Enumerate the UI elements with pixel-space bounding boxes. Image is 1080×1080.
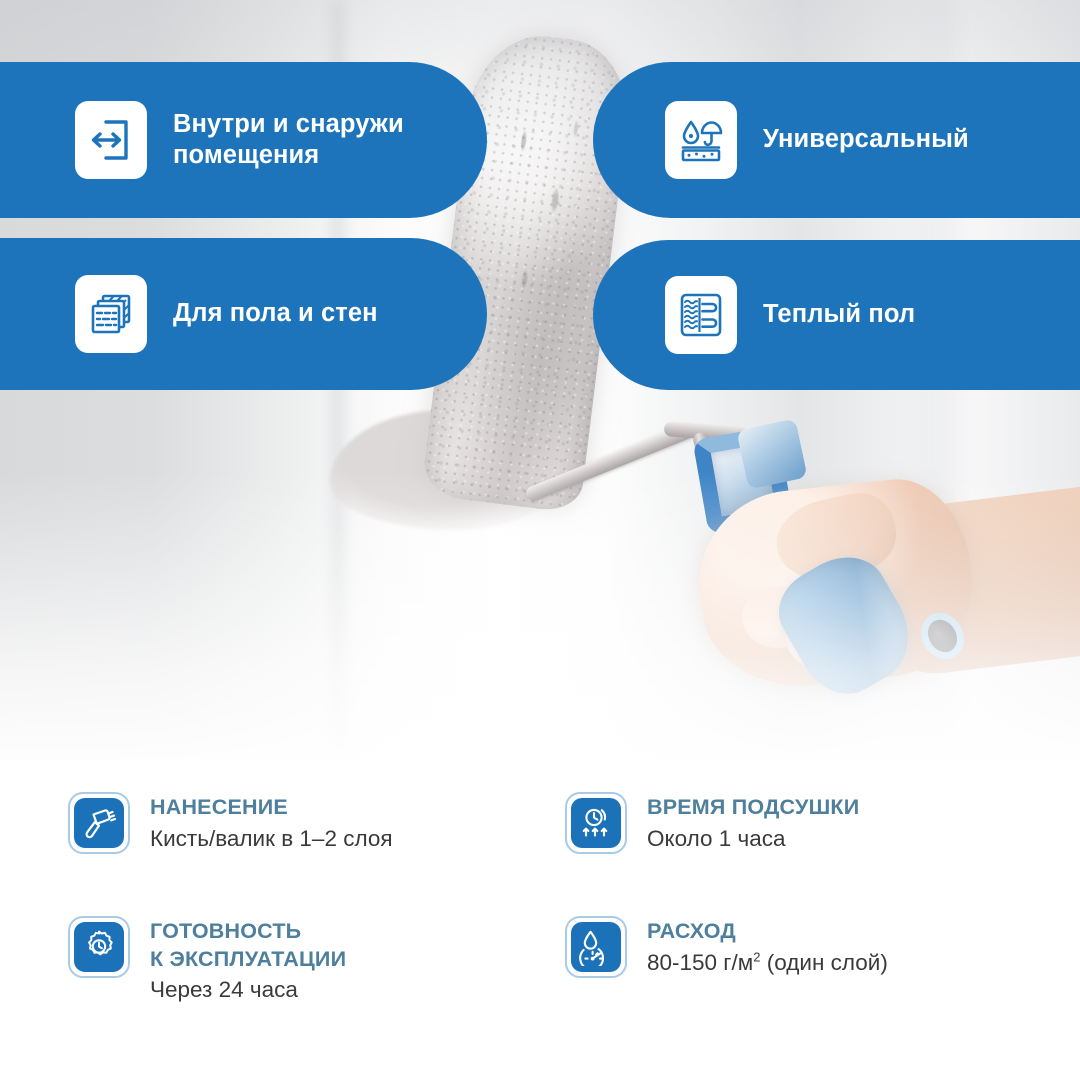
finger-knuckle <box>742 586 812 648</box>
spec-icon-tile <box>68 916 130 978</box>
roller-handle-icon <box>765 541 927 710</box>
infographic-page: Внутри и снаружи помещения Для пола и ст… <box>0 0 1080 1080</box>
droplet-gauge-consumption-icon <box>571 922 621 972</box>
spec-value: 80-150 г/м2 (один слой) <box>647 948 888 978</box>
roller-wire-arm-upper <box>664 421 749 442</box>
gear-clock-readiness-icon <box>74 922 124 972</box>
floor-and-wall-tiles-icon <box>75 275 147 353</box>
spec-item-consumption: РАСХОД 80-150 г/м2 (один слой) <box>565 916 1035 978</box>
feature-badge-universal[interactable]: Универсальный <box>593 62 1080 218</box>
feature-badge-floor-walls[interactable]: Для пола и стен <box>0 238 487 390</box>
spec-title: РАСХОД <box>647 919 736 943</box>
feature-badge-group: Внутри и снаружи помещения Для пола и ст… <box>0 0 1080 400</box>
feature-badge-label: Теплый пол <box>763 299 915 330</box>
spec-icon-tile <box>565 916 627 978</box>
indoor-outdoor-door-arrows-icon <box>75 101 147 179</box>
spec-item-application: НАНЕСЕНИЕ Кисть/валик в 1–2 слоя <box>68 792 538 854</box>
roller-handle-hole <box>922 615 962 658</box>
spec-item-drying-time: ВРЕМЯ ПОДСУШКИ Около 1 часа <box>565 792 1035 854</box>
feature-badge-label: Универсальный <box>763 124 969 155</box>
hand-holding-roller-icon <box>691 472 982 695</box>
spec-item-readiness: ГОТОВНОСТЬ К ЭКСПЛУАТАЦИИ Через 24 часа <box>68 916 538 1005</box>
underfloor-heating-icon <box>665 276 737 354</box>
spec-value: Через 24 часа <box>150 975 346 1005</box>
finger-knuckle <box>786 606 860 670</box>
spec-title: НАНЕСЕНИЕ <box>150 795 288 819</box>
roller-wire-crank <box>692 431 723 502</box>
paint-brush-roller-icon <box>74 798 124 848</box>
thumb <box>769 486 903 587</box>
feature-badge-indoor-outdoor[interactable]: Внутри и снаружи помещения <box>0 62 487 218</box>
feature-badge-label: Внутри и снаружи помещения <box>173 109 487 171</box>
clock-drying-arrows-icon <box>571 798 621 848</box>
spec-value: Кисть/валик в 1–2 слоя <box>150 824 393 854</box>
spec-value: Около 1 часа <box>647 824 859 854</box>
spec-title: ГОТОВНОСТЬ К ЭКСПЛУАТАЦИИ <box>150 919 346 971</box>
wet-paint-smear <box>330 410 560 530</box>
spec-text: НАНЕСЕНИЕ Кисть/валик в 1–2 слоя <box>150 792 393 853</box>
spec-text: ГОТОВНОСТЬ К ЭКСПЛУАТАЦИИ Через 24 часа <box>150 916 346 1005</box>
spec-text: РАСХОД 80-150 г/м2 (один слой) <box>647 916 888 977</box>
specification-grid: НАНЕСЕНИЕ Кисть/валик в 1–2 слоя <box>0 776 1080 1080</box>
spec-icon-tile <box>565 792 627 854</box>
spec-text: ВРЕМЯ ПОДСУШКИ Около 1 часа <box>647 792 859 853</box>
roller-bracket-icon <box>692 425 793 534</box>
water-drop-umbrella-universal-icon <box>665 101 737 179</box>
finger-knuckle <box>836 602 906 662</box>
spec-value-main: 80-150 г/м <box>647 950 753 975</box>
forearm <box>846 482 1080 683</box>
spec-value-tail: (один слой) <box>760 950 887 975</box>
spec-title: ВРЕМЯ ПОДСУШКИ <box>647 795 859 819</box>
feature-badge-label: Для пола и стен <box>173 298 378 329</box>
roller-bracket-cap <box>736 418 807 489</box>
spec-icon-tile <box>68 792 130 854</box>
feature-badge-underfloor-heating[interactable]: Теплый пол <box>593 240 1080 390</box>
roller-wire-arm <box>524 422 697 503</box>
